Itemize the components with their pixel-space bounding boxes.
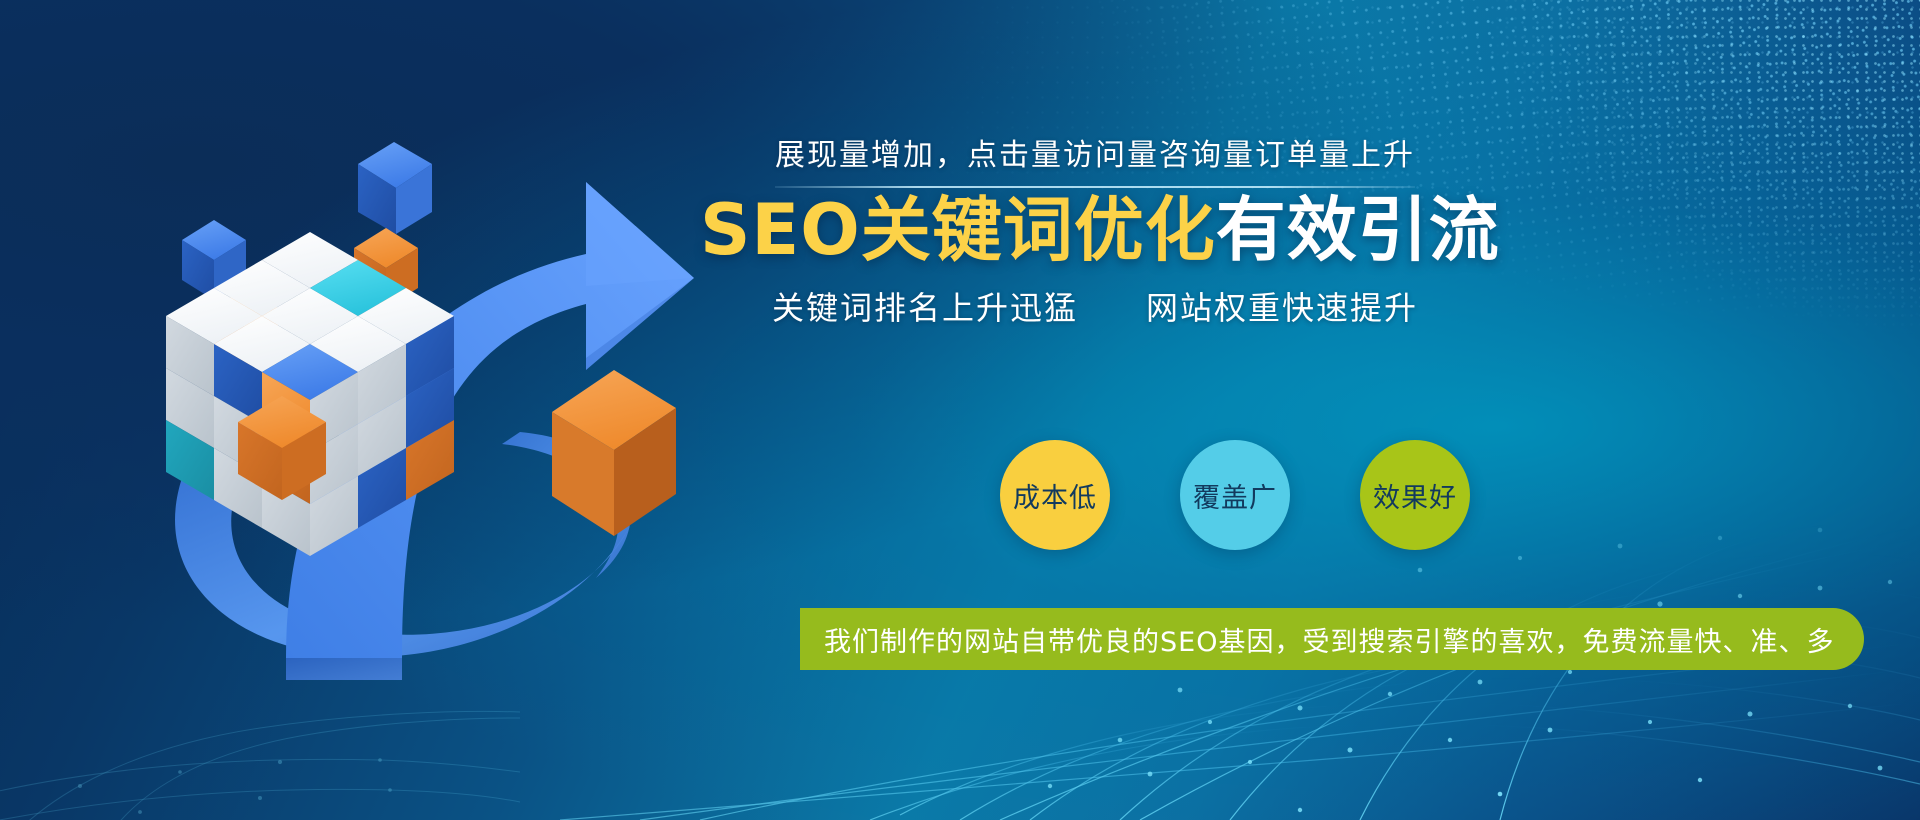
promo-bar: 我们制作的网站自带优良的SEO基因，受到搜索引擎的喜欢，免费流量快、准、多 (800, 608, 1864, 670)
badge-cost[interactable]: 成本低 (1000, 440, 1110, 550)
headline-divider (775, 186, 1415, 188)
headline-highlight: SEO关键词优化 (700, 189, 1216, 271)
badge-effectiveness[interactable]: 效果好 (1360, 440, 1470, 550)
headline-top-line: 展现量增加，点击量访问量咨询量订单量上升 (700, 130, 1490, 174)
seo-promo-banner: 展现量增加，点击量访问量咨询量订单量上升 SEO关键词优化有效引流 关键词排名上… (0, 0, 1920, 820)
badge-coverage[interactable]: 覆盖广 (1180, 440, 1290, 550)
main-headline: SEO关键词优化有效引流 (700, 192, 1490, 269)
hero-illustration (90, 40, 730, 680)
headline-group: 展现量增加，点击量访问量咨询量订单量上升 SEO关键词优化有效引流 关键词排名上… (700, 130, 1490, 329)
headline-rest: 有效引流 (1216, 189, 1500, 271)
floating-orange-cube-icon (552, 370, 676, 536)
feature-badges: 成本低 覆盖广 效果好 (1000, 440, 1470, 550)
headline-sub-line: 关键词排名上升迅猛 网站权重快速提升 (700, 283, 1490, 329)
floating-blue-cube-icon (358, 142, 432, 234)
